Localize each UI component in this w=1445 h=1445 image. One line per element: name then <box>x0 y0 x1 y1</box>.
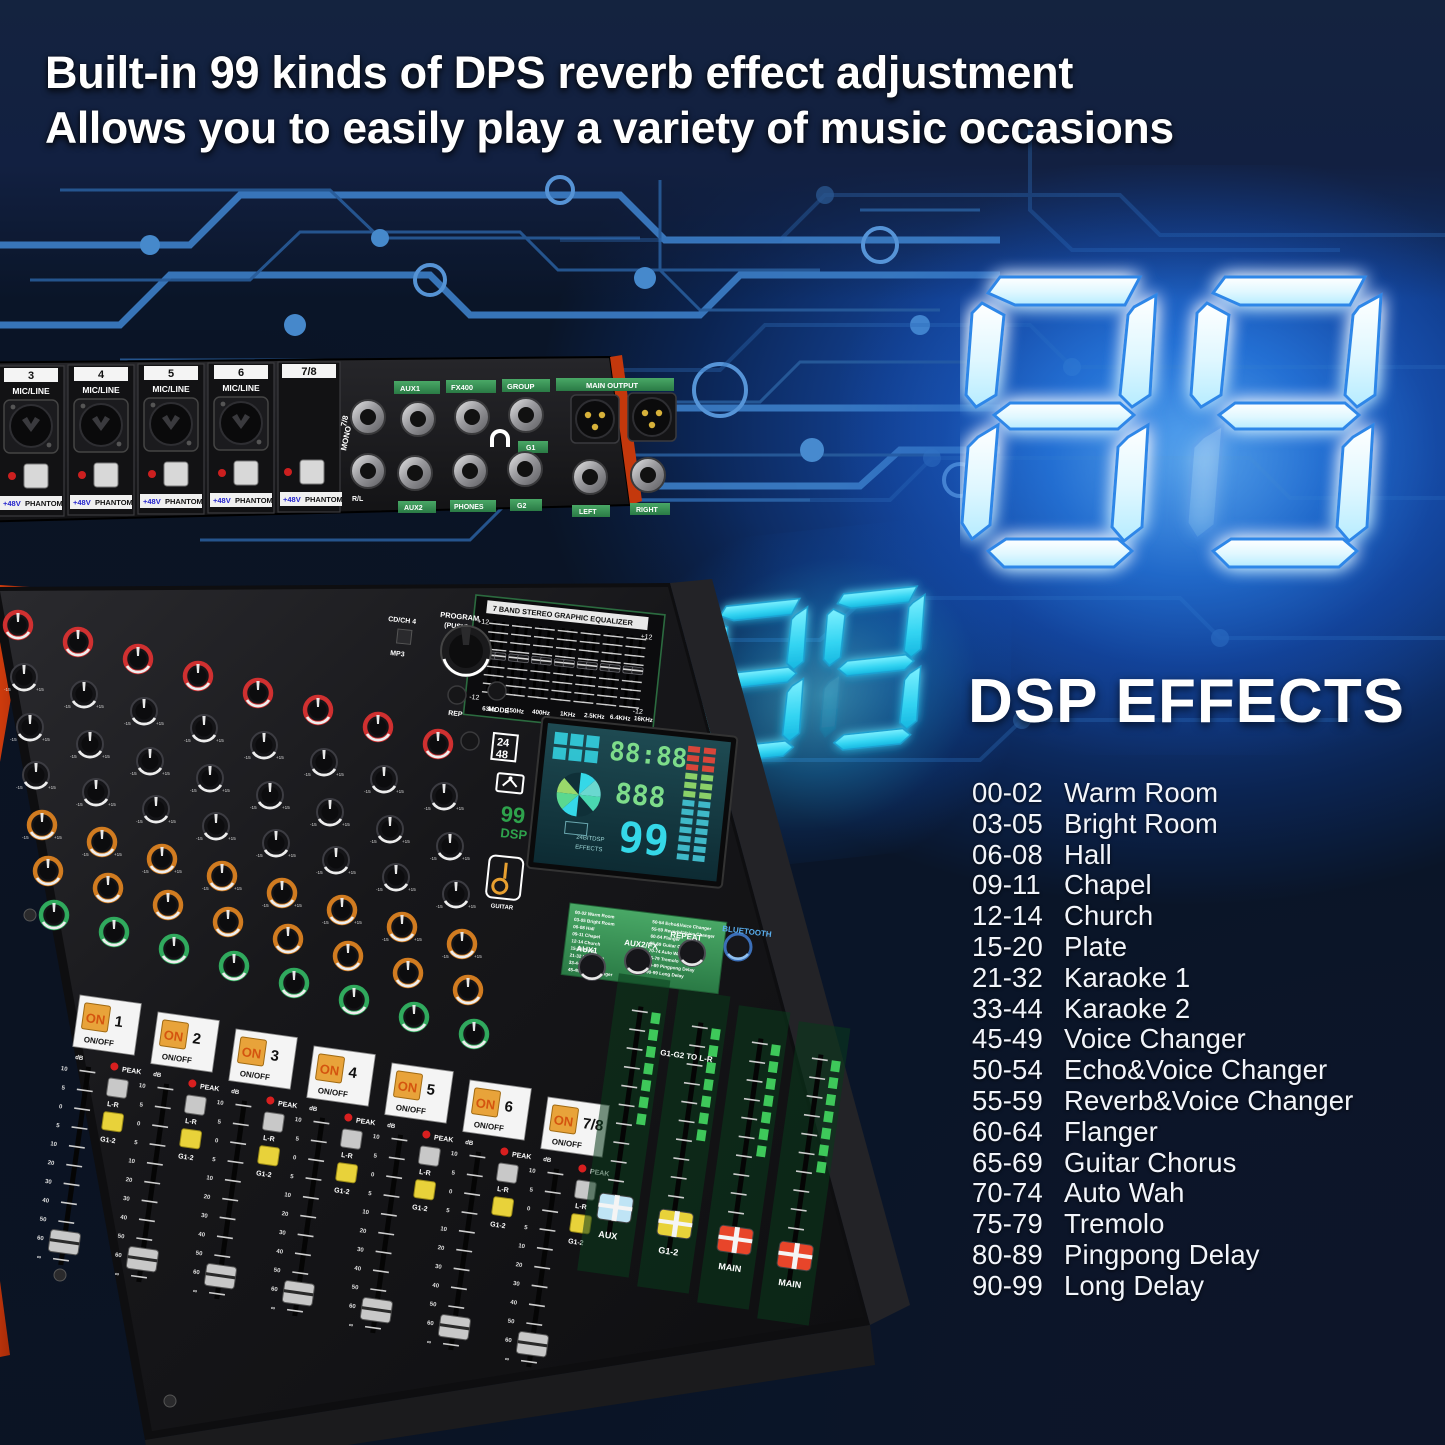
effect-row: 09-11Chapel <box>972 870 1442 901</box>
effect-row: 80-89Pingpong Delay <box>972 1240 1442 1271</box>
knob-scale-max: +15 <box>294 903 302 908</box>
svg-text:48: 48 <box>495 748 508 761</box>
channel-knob[interactable] <box>149 846 175 872</box>
headline-line-1: Built-in 99 kinds of DPS reverb effect a… <box>45 44 1415 101</box>
effect-name: Flanger <box>1064 1116 1158 1147</box>
knob-scale-min: -15 <box>310 822 317 827</box>
channel-knob[interactable] <box>65 629 91 655</box>
effect-name: Warm Room <box>1064 777 1218 808</box>
channel-knob[interactable] <box>395 960 421 986</box>
channel-knob[interactable] <box>95 875 121 901</box>
effect-name: Chapel <box>1064 869 1152 900</box>
knob-scale-min: -15 <box>64 704 71 709</box>
g12-routing-button[interactable] <box>414 1179 436 1200</box>
channel-knob[interactable] <box>311 749 337 775</box>
fader-scale-label: 20 <box>47 1160 55 1167</box>
on-label: ON <box>475 1095 496 1113</box>
audio-mixer-product-photo: 2 3 4 5 6 7/8 MIC/LINEMIC/LINE MIC/LINEM… <box>0 355 950 1445</box>
db-label: dB <box>309 1106 318 1113</box>
knob-scale-max: +15 <box>96 704 104 709</box>
db-label: dB <box>75 1055 84 1062</box>
fader-scale-label: 5 <box>56 1123 61 1129</box>
knob-scale-max: +15 <box>396 789 404 794</box>
effect-name: Pingpong Delay <box>1064 1239 1260 1270</box>
effect-row: 45-49Voice Changer <box>972 1024 1442 1055</box>
knob-scale-max: +15 <box>102 754 110 759</box>
g12-routing-button[interactable] <box>336 1162 358 1183</box>
channel-knob[interactable] <box>131 698 157 724</box>
fader-scale-label: 10 <box>50 1141 58 1148</box>
lr-routing-button[interactable] <box>340 1129 362 1150</box>
knob-scale-max: +15 <box>234 886 242 891</box>
fader-scale-label: 30 <box>45 1179 53 1186</box>
knob-scale-max: +15 <box>156 721 164 726</box>
channel-knob[interactable] <box>185 663 211 689</box>
effect-row: 00-02Warm Room <box>972 778 1442 809</box>
knob-scale-max: +15 <box>174 869 182 874</box>
knob-scale-min: -15 <box>370 839 377 844</box>
knob-scale-max: +15 <box>42 737 50 742</box>
knob-scale-max: +15 <box>168 819 176 824</box>
svg-text:5: 5 <box>168 368 174 380</box>
fader-scale-label: 40 <box>42 1198 50 1205</box>
svg-text:6: 6 <box>238 367 244 379</box>
effect-name: Guitar Chorus <box>1064 1147 1236 1178</box>
svg-text:-12: -12 <box>469 694 480 702</box>
knob-scale-min: -15 <box>262 903 269 908</box>
svg-text:+48V: +48V <box>283 495 301 504</box>
effect-row: 70-74Auto Wah <box>972 1178 1442 1209</box>
channel-knob[interactable] <box>329 897 355 923</box>
channel-knob[interactable] <box>371 766 397 792</box>
knob-scale-max: +15 <box>474 954 482 959</box>
knob-scale-max: +15 <box>48 785 56 790</box>
channel-knob[interactable] <box>377 816 403 842</box>
knob-scale-min: -15 <box>250 805 257 810</box>
effect-range: 50-54 <box>972 1055 1064 1086</box>
knob-scale-max: +15 <box>228 836 236 841</box>
channel-knob[interactable] <box>269 880 295 906</box>
knob-scale-min: -15 <box>4 687 11 692</box>
db-label: dB <box>543 1157 552 1164</box>
fader-scale-label: 5 <box>61 1085 66 1091</box>
effect-name: Bright Room <box>1064 808 1218 839</box>
effect-name: Hall <box>1064 839 1112 870</box>
channel-knob[interactable] <box>323 847 349 873</box>
effect-range: 70-74 <box>972 1178 1064 1209</box>
effect-name: Church <box>1064 900 1153 931</box>
channel-knob[interactable] <box>335 943 361 969</box>
knob-scale-min: -15 <box>196 836 203 841</box>
effect-range: 03-05 <box>972 809 1064 840</box>
effect-name: Karaoke 1 <box>1064 962 1190 993</box>
g12-routing-button[interactable] <box>492 1196 514 1217</box>
svg-text:AUX2: AUX2 <box>404 505 423 512</box>
fader-scale-label: 10 <box>60 1066 68 1073</box>
svg-text:LEFT: LEFT <box>579 509 597 516</box>
knob-scale-max: +15 <box>276 755 284 760</box>
effect-name: Voice Changer <box>1064 1023 1246 1054</box>
svg-text:4: 4 <box>98 369 105 381</box>
knob-scale-min: -15 <box>22 835 29 840</box>
knob-scale-min: -15 <box>424 806 431 811</box>
effect-row: 21-32Karaoke 1 <box>972 963 1442 994</box>
effect-range: 75-79 <box>972 1209 1064 1240</box>
fader-scale-label: ∞ <box>504 1357 509 1364</box>
knob-scale-min: -15 <box>322 920 329 925</box>
knob-scale-max: +15 <box>414 937 422 942</box>
effect-row: 90-99Long Delay <box>972 1271 1442 1302</box>
channel-knob[interactable] <box>281 970 307 996</box>
svg-text:MAIN OUTPUT: MAIN OUTPUT <box>586 381 638 390</box>
fader-scale-label: ∞ <box>114 1272 119 1279</box>
knob-scale-min: -15 <box>76 802 83 807</box>
channel-knob[interactable] <box>101 919 127 945</box>
svg-text:MIC/LINE: MIC/LINE <box>222 383 260 393</box>
channel-knob[interactable] <box>425 731 451 757</box>
knob-scale-min: -15 <box>430 856 437 861</box>
knob-scale-max: +15 <box>108 802 116 807</box>
channel-knob[interactable] <box>305 697 331 723</box>
headline-block: Built-in 99 kinds of DPS reverb effect a… <box>45 44 1415 158</box>
effect-range: 90-99 <box>972 1271 1064 1302</box>
knob-scale-min: -15 <box>82 852 89 857</box>
knob-scale-min: -15 <box>304 772 311 777</box>
effect-name: Tremolo <box>1064 1208 1165 1239</box>
lr-routing-button[interactable] <box>106 1078 128 1099</box>
lr-routing-button[interactable] <box>496 1163 518 1184</box>
knob-scale-min: -15 <box>202 886 209 891</box>
svg-text:FX400: FX400 <box>451 383 473 392</box>
channel-knob[interactable] <box>401 1004 427 1030</box>
channel-knob[interactable] <box>155 892 181 918</box>
svg-text:AUX1: AUX1 <box>400 384 420 393</box>
big-99-display <box>960 255 1410 655</box>
effect-row: 06-08Hall <box>972 840 1442 871</box>
knob-scale-max: +15 <box>354 920 362 925</box>
effect-name: Karaoke 2 <box>1064 993 1190 1024</box>
effect-row: 55-59Reverb&Voice Changer <box>972 1086 1442 1117</box>
knob-scale-min: -15 <box>130 771 137 776</box>
knob-scale-min: -15 <box>142 869 149 874</box>
dsp-effects-list: 00-02Warm Room03-05Bright Room06-08Hall0… <box>972 778 1442 1302</box>
svg-text:PHANTOM: PHANTOM <box>95 498 133 507</box>
channel-knob[interactable] <box>197 765 223 791</box>
effect-range: 21-32 <box>972 963 1064 994</box>
db-label: dB <box>153 1072 162 1079</box>
fader-scale-label: ∞ <box>36 1255 41 1262</box>
svg-text:+48V: +48V <box>3 499 21 508</box>
knob-scale-min: -15 <box>124 721 131 726</box>
effect-range: 06-08 <box>972 840 1064 871</box>
effect-range: 00-02 <box>972 778 1064 809</box>
effect-row: 50-54Echo&Voice Changer <box>972 1055 1442 1086</box>
channel-knob[interactable] <box>71 681 97 707</box>
on-label: ON <box>553 1112 574 1130</box>
channel-knob[interactable] <box>11 664 37 690</box>
fader-scale-label: ∞ <box>192 1289 197 1296</box>
knob-scale-max: +15 <box>222 788 230 793</box>
knob-scale-max: +15 <box>462 856 470 861</box>
db-label: dB <box>387 1123 396 1130</box>
mixer-rear-panel: 2 3 4 5 6 7/8 MIC/LINEMIC/LINE MIC/LINEM… <box>0 355 676 523</box>
svg-text:R/L: R/L <box>352 496 364 503</box>
knob-scale-min: -15 <box>244 755 251 760</box>
channel-knob[interactable] <box>461 1021 487 1047</box>
svg-text:+48V: +48V <box>73 498 91 507</box>
effect-range: 09-11 <box>972 870 1064 901</box>
effect-name: Auto Wah <box>1064 1177 1185 1208</box>
effect-range: 15-20 <box>972 932 1064 963</box>
channel-knob[interactable] <box>275 926 301 952</box>
headline-line-2: Allows you to easily play a variety of m… <box>45 101 1415 158</box>
channel-knob[interactable] <box>263 830 289 856</box>
lcd-preset: 99 <box>616 812 671 866</box>
knob-scale-max: +15 <box>162 771 170 776</box>
knob-scale-max: +15 <box>468 904 476 909</box>
fader-scale-label: ∞ <box>348 1323 353 1330</box>
channel-knob[interactable] <box>143 796 169 822</box>
lr-routing-button[interactable] <box>184 1095 206 1116</box>
effect-name: Plate <box>1064 931 1127 962</box>
fader-scale-label: ∞ <box>270 1306 275 1313</box>
channel-knob[interactable] <box>383 864 409 890</box>
on-label: ON <box>85 1010 106 1028</box>
channel-knob[interactable] <box>5 612 31 638</box>
poster-canvas: Built-in 99 kinds of DPS reverb effect a… <box>0 0 1445 1445</box>
svg-text:RIGHT: RIGHT <box>636 507 659 514</box>
knob-scale-max: +15 <box>114 852 122 857</box>
channel-knob[interactable] <box>83 779 109 805</box>
effect-range: 33-44 <box>972 994 1064 1025</box>
effect-row: 75-79Tremolo <box>972 1209 1442 1240</box>
channel-knob[interactable] <box>29 812 55 838</box>
knob-scale-min: -15 <box>376 887 383 892</box>
knob-scale-max: +15 <box>348 870 356 875</box>
svg-text:MIC/LINE: MIC/LINE <box>152 384 190 394</box>
svg-text:PHONES: PHONES <box>454 504 484 511</box>
lcd-display: 88:88 888 99 24BITDSP EFFECTS <box>527 716 738 888</box>
fader-scale-label: ∞ <box>426 1340 431 1347</box>
on-label: ON <box>241 1044 262 1062</box>
effect-range: 65-69 <box>972 1148 1064 1179</box>
knob-scale-min: -15 <box>436 904 443 909</box>
svg-text:7/8: 7/8 <box>301 366 316 378</box>
knob-scale-max: +15 <box>342 822 350 827</box>
channel-knob[interactable] <box>317 799 343 825</box>
channel-knob[interactable] <box>23 762 49 788</box>
dsp-badge-text: DSP <box>500 825 528 843</box>
mixer-main-body: -15+15-15+15-15+15-15+15-15+15-15+15-15+… <box>0 579 910 1445</box>
channel-knob[interactable] <box>203 813 229 839</box>
svg-text:PHANTOM: PHANTOM <box>165 497 203 506</box>
fader-scale-label: 0 <box>58 1104 63 1110</box>
channel-knob[interactable] <box>17 714 43 740</box>
effect-row: 33-44Karaoke 2 <box>972 994 1442 1025</box>
channel-knob[interactable] <box>215 909 241 935</box>
g12-routing-button[interactable] <box>258 1145 280 1166</box>
channel-knob[interactable] <box>89 829 115 855</box>
channel-knob[interactable] <box>77 731 103 757</box>
channel-knob[interactable] <box>437 833 463 859</box>
effect-name: Long Delay <box>1064 1270 1204 1301</box>
channel-knob[interactable] <box>161 936 187 962</box>
knob-scale-min: -15 <box>136 819 143 824</box>
svg-text:+48V: +48V <box>143 497 161 506</box>
svg-text:G1: G1 <box>526 445 535 452</box>
effect-row: 65-69Guitar Chorus <box>972 1148 1442 1179</box>
channel-knob[interactable] <box>431 783 457 809</box>
channel-knob[interactable] <box>221 953 247 979</box>
rear-channel-group: 2 3 4 5 6 7/8 MIC/LINEMIC/LINE MIC/LINEM… <box>0 362 343 517</box>
effect-row: 03-05Bright Room <box>972 809 1442 840</box>
knob-scale-max: +15 <box>54 835 62 840</box>
knob-scale-min: -15 <box>184 738 191 743</box>
channel-knob[interactable] <box>365 714 391 740</box>
effect-range: 60-64 <box>972 1117 1064 1148</box>
lr-routing-button[interactable] <box>262 1112 284 1133</box>
fader-scale-label: 50 <box>39 1217 47 1224</box>
knob-scale-max: +15 <box>456 806 464 811</box>
dsp-effects-title: DSP EFFECTS <box>968 666 1405 737</box>
svg-text:PHANTOM: PHANTOM <box>25 499 63 508</box>
channel-knob[interactable] <box>251 732 277 758</box>
effect-name: Reverb&Voice Changer <box>1064 1085 1353 1116</box>
knob-scale-min: -15 <box>10 737 17 742</box>
knob-scale-max: +15 <box>408 887 416 892</box>
channel-knob[interactable] <box>191 715 217 741</box>
channel-knob[interactable] <box>41 902 67 928</box>
knob-scale-max: +15 <box>336 772 344 777</box>
output-trs-jacks-top <box>401 398 543 436</box>
lcd-counter: 888 <box>613 776 667 814</box>
effect-name: Echo&Voice Changer <box>1064 1054 1327 1085</box>
svg-text:MIC/LINE: MIC/LINE <box>82 385 120 395</box>
db-label: dB <box>231 1089 240 1096</box>
knob-scale-min: -15 <box>256 853 263 858</box>
effect-range: 45-49 <box>972 1024 1064 1055</box>
lr-routing-button[interactable] <box>418 1146 440 1167</box>
knob-scale-min: -15 <box>316 870 323 875</box>
channel-knob[interactable] <box>341 987 367 1013</box>
svg-text:3: 3 <box>28 370 34 382</box>
knob-scale-min: -15 <box>442 954 449 959</box>
channel-knob[interactable] <box>257 782 283 808</box>
channel-knob[interactable] <box>245 680 271 706</box>
effect-row: 15-20Plate <box>972 932 1442 963</box>
fader-scale-label: 60 <box>37 1235 45 1242</box>
effect-row: 60-64Flanger <box>972 1117 1442 1148</box>
channel-knob[interactable] <box>443 881 469 907</box>
svg-text:+48V: +48V <box>213 496 231 505</box>
knob-scale-min: -15 <box>382 937 389 942</box>
knob-scale-max: +15 <box>282 805 290 810</box>
knob-scale-min: -15 <box>364 789 371 794</box>
knob-scale-min: -15 <box>16 785 23 790</box>
channel-knob[interactable] <box>35 858 61 884</box>
big-99-digits <box>960 255 1410 655</box>
channel-knob[interactable] <box>455 977 481 1003</box>
db-label: dB <box>465 1140 474 1147</box>
channel-knob[interactable] <box>389 914 415 940</box>
knob-scale-max: +15 <box>288 853 296 858</box>
effect-row: 12-14Church <box>972 901 1442 932</box>
effect-range: 80-89 <box>972 1240 1064 1271</box>
on-label: ON <box>319 1061 340 1079</box>
g12-routing-button[interactable] <box>102 1111 124 1132</box>
effect-range: 12-14 <box>972 901 1064 932</box>
knob-scale-max: +15 <box>216 738 224 743</box>
on-label: ON <box>397 1078 418 1096</box>
knob-scale-max: +15 <box>36 687 44 692</box>
program-knob <box>441 626 491 676</box>
on-label: ON <box>163 1027 184 1045</box>
svg-text:MIC/LINE: MIC/LINE <box>12 386 50 396</box>
channel-knob[interactable] <box>125 646 151 672</box>
svg-text:PHANTOM: PHANTOM <box>235 496 273 505</box>
knob-scale-max: +15 <box>402 839 410 844</box>
effect-range: 55-59 <box>972 1086 1064 1117</box>
svg-text:GROUP: GROUP <box>507 382 535 391</box>
channel-knob[interactable] <box>137 748 163 774</box>
channel-knob[interactable] <box>209 863 235 889</box>
svg-text:G2: G2 <box>517 503 526 510</box>
svg-text:PHANTOM: PHANTOM <box>305 495 343 504</box>
knob-scale-min: -15 <box>190 788 197 793</box>
knob-scale-min: -15 <box>70 754 77 759</box>
g12-routing-button[interactable] <box>180 1128 202 1149</box>
channel-knob[interactable] <box>449 931 475 957</box>
